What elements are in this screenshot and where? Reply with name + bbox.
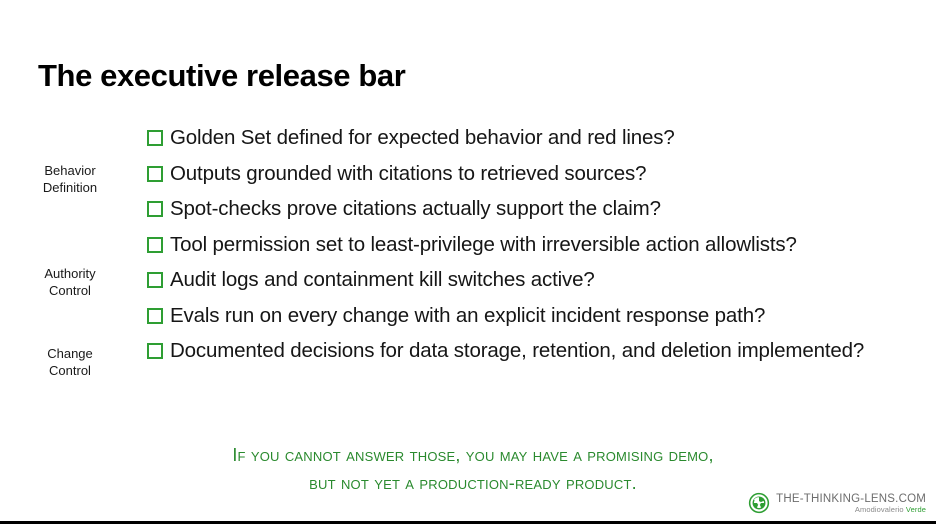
group-label-line-1: Behavior — [14, 162, 126, 179]
checklist-item-label: Outputs grounded with citations to retri… — [170, 162, 646, 185]
lens-aperture-icon — [748, 492, 770, 514]
page-title: The executive release bar — [38, 59, 405, 93]
group-label-authority-control: Authority Control — [14, 265, 126, 299]
empty-checkbox-icon[interactable] — [147, 166, 163, 182]
checklist-item[interactable]: Documented decisions for data storage, r… — [143, 337, 928, 366]
group-label-line-2: Control — [14, 362, 126, 379]
group-label-line-2: Control — [14, 282, 126, 299]
checklist-item-label: Spot-checks prove citations actually sup… — [170, 197, 661, 220]
group-label-behavior-definition: Behavior Definition — [14, 162, 126, 196]
checklist: Golden Set defined for expected behavior… — [143, 124, 928, 366]
caption-line-2: but not yet a production-ready product. — [143, 469, 803, 497]
group-label-line-2: Definition — [14, 179, 126, 196]
checklist-item[interactable]: Outputs grounded with citations to retri… — [143, 160, 928, 189]
empty-checkbox-icon[interactable] — [147, 308, 163, 324]
checklist-item-label: Golden Set defined for expected behavior… — [170, 126, 675, 149]
brand-text-block: THE-THINKING-LENS.COM Amodiovalerio Verd… — [776, 493, 926, 514]
checklist-item-label: Documented decisions for data storage, r… — [170, 339, 864, 362]
brand-domain: THE-THINKING-LENS.COM — [776, 493, 926, 505]
empty-checkbox-icon[interactable] — [147, 272, 163, 288]
checklist-item-label: Evals run on every change with an explic… — [170, 304, 765, 327]
brand-author-last: Verde — [906, 505, 926, 514]
brand-author-first: Amodiovalerio — [855, 505, 906, 514]
checklist-item[interactable]: Spot-checks prove citations actually sup… — [143, 195, 928, 224]
group-label-line-1: Change — [14, 345, 126, 362]
closing-caption: If you cannot answer those, you may have… — [143, 441, 803, 497]
empty-checkbox-icon[interactable] — [147, 343, 163, 359]
group-label-change-control: Change Control — [14, 345, 126, 379]
checklist-item[interactable]: Audit logs and containment kill switches… — [143, 266, 928, 295]
caption-line-1: If you cannot answer those, you may have… — [143, 441, 803, 469]
brand-watermark[interactable]: THE-THINKING-LENS.COM Amodiovalerio Verd… — [748, 492, 926, 514]
empty-checkbox-icon[interactable] — [147, 237, 163, 253]
empty-checkbox-icon[interactable] — [147, 130, 163, 146]
brand-author: Amodiovalerio Verde — [855, 506, 926, 514]
bottom-rule — [0, 521, 936, 524]
checklist-item[interactable]: Tool permission set to least-privilege w… — [143, 231, 928, 260]
checklist-item-label: Tool permission set to least-privilege w… — [170, 233, 797, 256]
checklist-body: Behavior Definition Authority Control Ch… — [0, 124, 936, 429]
group-label-line-1: Authority — [14, 265, 126, 282]
slide-canvas: The executive release bar Behavior Defin… — [0, 0, 936, 528]
empty-checkbox-icon[interactable] — [147, 201, 163, 217]
checklist-item-label: Audit logs and containment kill switches… — [170, 268, 595, 291]
checklist-item[interactable]: Golden Set defined for expected behavior… — [143, 124, 928, 153]
checklist-item[interactable]: Evals run on every change with an explic… — [143, 302, 928, 331]
